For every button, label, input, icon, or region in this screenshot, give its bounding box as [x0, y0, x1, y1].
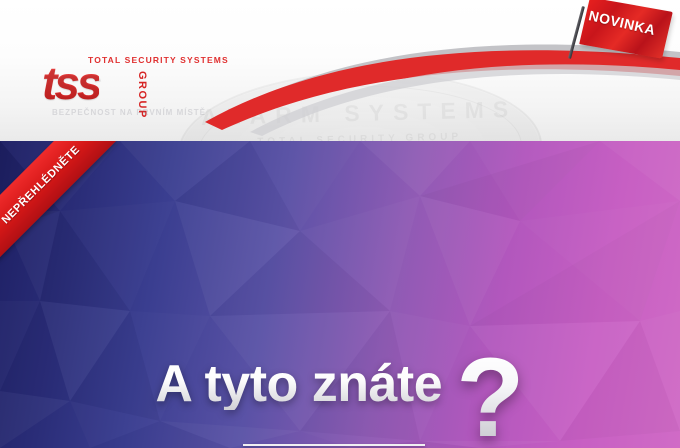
logo-top-text: TOTAL SECURITY SYSTEMS: [88, 55, 229, 65]
logo-tagline: BEZPEČNOST NA PRVNÍM MÍSTĚ: [52, 108, 206, 117]
title-divider: [243, 444, 425, 446]
banner-header: ALARM SYSTEMS TOTAL SECURITY GROUP TOTAL…: [0, 0, 680, 141]
novinka-flag: NOVINKA: [560, 2, 672, 74]
logo-wordmark: tss: [42, 60, 99, 106]
question-mark-glyph: ?: [456, 353, 524, 443]
tss-logo[interactable]: TOTAL SECURITY SYSTEMS tss GROUP BEZPEČN…: [40, 55, 200, 117]
promo-banner: ALARM SYSTEMS TOTAL SECURITY GROUP TOTAL…: [0, 0, 680, 448]
banner-hero: NEPŘEHLÉDNĚTE A tyto znáte? Produkty, o …: [0, 141, 680, 448]
headline-row: A tyto znáte?: [0, 339, 680, 429]
page-title: A tyto znáte: [155, 358, 442, 410]
